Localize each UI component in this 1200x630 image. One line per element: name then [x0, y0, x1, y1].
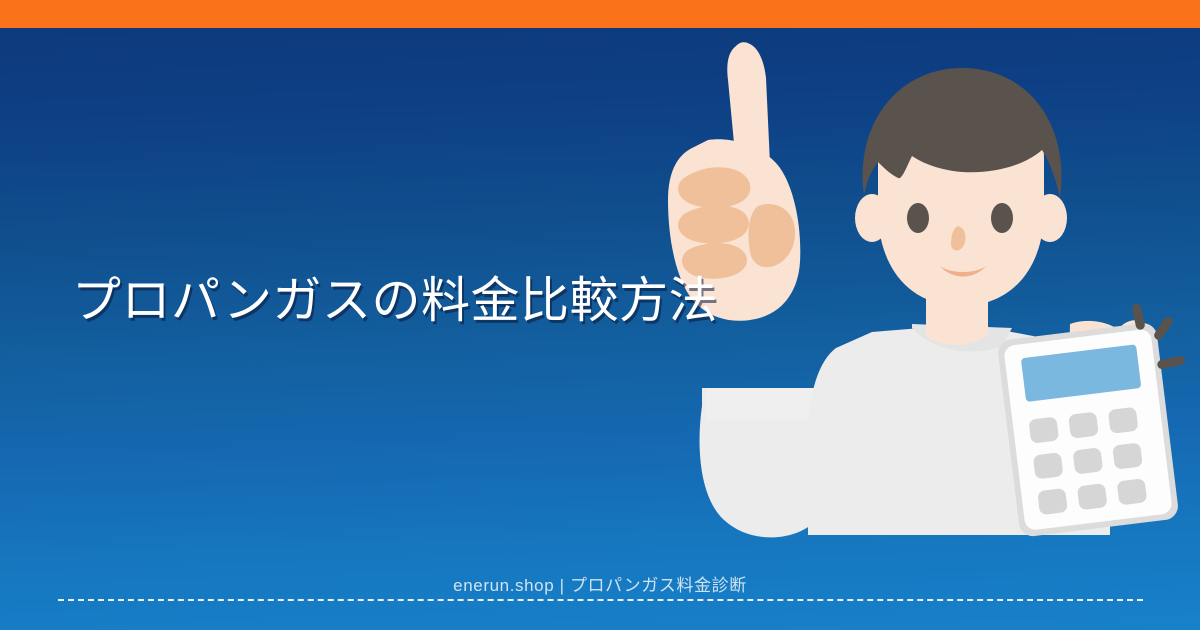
eye-right — [991, 203, 1013, 233]
ogp-card: プロパンガスの料金比較方法 enerun.shop | プロパンガス料金診断 — [0, 0, 1200, 630]
spark-mark-2 — [1152, 315, 1174, 342]
eye-left — [907, 203, 929, 233]
calculator — [997, 322, 1180, 538]
head — [855, 68, 1067, 306]
top-accent-bar — [0, 0, 1200, 28]
footer-branding: enerun.shop | プロパンガス料金診断 — [0, 571, 1200, 596]
page-title: プロパンガスの料金比較方法 — [72, 272, 772, 331]
footer-divider — [58, 599, 1143, 601]
calculator-keys — [1028, 407, 1147, 515]
spark-mark-3 — [1156, 355, 1185, 370]
